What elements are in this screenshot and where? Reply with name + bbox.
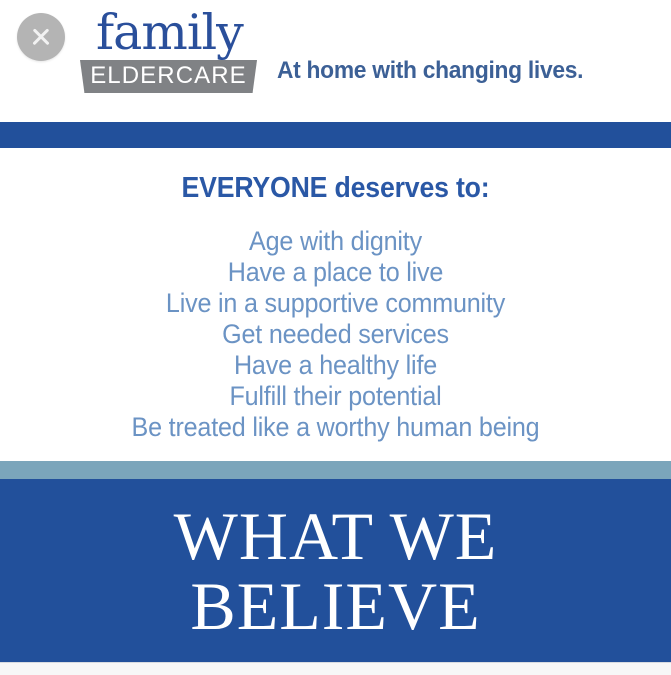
logo-wordmark-family: family [96,8,243,57]
list-item: Age with dignity [23,226,647,257]
top-blue-divider [0,122,671,148]
header: family ELDERCARE At home with changing l… [0,0,671,122]
list-item: Have a place to live [23,257,647,288]
logo-banner-eldercare: ELDERCARE [80,60,257,93]
beliefs-heading: EVERYONE deserves to: [27,148,644,205]
beliefs-list: Age with dignity Have a place to live Li… [0,226,671,443]
beliefs-section: EVERYONE deserves to: Age with dignity H… [0,148,671,461]
teal-divider [0,461,671,479]
banner-title-line-2: BELIEVE [190,571,480,641]
list-item: Be treated like a worthy human being [23,412,647,443]
family-eldercare-logo: family ELDERCARE [78,10,268,95]
image-viewer-screen: family ELDERCARE At home with changing l… [0,0,671,675]
list-item: Live in a supportive community [23,288,647,319]
bottom-strip [0,662,671,675]
close-button[interactable] [17,13,65,61]
list-item: Have a healthy life [23,350,647,381]
list-item: Get needed services [23,319,647,350]
logo-wordmark-eldercare: ELDERCARE [80,60,257,93]
banner-title-line-1: WHAT WE [174,501,498,571]
tagline: At home with changing lives. [277,57,583,85]
list-item: Fulfill their potential [23,381,647,412]
what-we-believe-banner: WHAT WE BELIEVE [0,479,671,662]
close-icon [17,13,65,61]
